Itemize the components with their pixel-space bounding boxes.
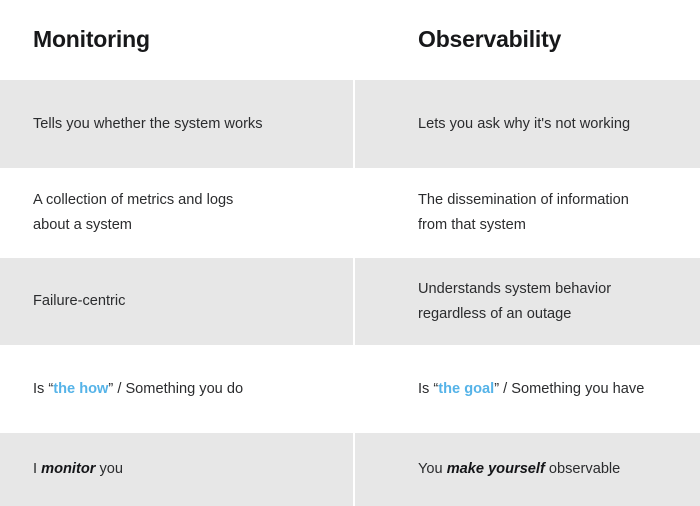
column-title-observability: Observability bbox=[418, 26, 561, 54]
table-header-row: Monitoring Observability bbox=[0, 0, 700, 80]
table-row: Is “the how” / Something you do Is “the … bbox=[0, 345, 700, 433]
cell-text-emphasis: monitor bbox=[41, 461, 95, 477]
cell-text: Failure-centric bbox=[33, 289, 125, 314]
cell-observability-5: You make yourself observable bbox=[350, 457, 700, 482]
cell-monitoring-1: Tells you whether the system works bbox=[0, 112, 350, 137]
cell-text: A collection of metrics and logs about a… bbox=[33, 188, 233, 238]
cell-monitoring-3: Failure-centric bbox=[0, 289, 350, 314]
cell-text-line1: Understands system behavior bbox=[418, 281, 611, 297]
cell-monitoring-5: I monitor you bbox=[0, 457, 350, 482]
comparison-table: Monitoring Observability Tells you wheth… bbox=[0, 0, 700, 506]
cell-text: The dissemination of information from th… bbox=[418, 188, 629, 238]
cell-text: Is “the goal” / Something you have bbox=[418, 377, 644, 402]
table-row: Tells you whether the system works Lets … bbox=[0, 80, 700, 168]
cell-observability-3: Understands system behavior regardless o… bbox=[350, 277, 700, 327]
cell-text: You make yourself observable bbox=[418, 457, 620, 482]
cell-observability-2: The dissemination of information from th… bbox=[350, 188, 700, 238]
table-row: I monitor you You make yourself observab… bbox=[0, 433, 700, 506]
cell-text-emphasis: make yourself bbox=[447, 461, 545, 477]
header-cell-monitoring: Monitoring bbox=[0, 26, 350, 54]
header-cell-observability: Observability bbox=[350, 26, 700, 54]
cell-text-prefix: Is “ bbox=[33, 381, 53, 397]
column-title-monitoring: Monitoring bbox=[33, 26, 150, 54]
cell-text-prefix: I bbox=[33, 461, 41, 477]
cell-text-accent: the goal bbox=[438, 381, 494, 397]
cell-text-suffix: ” / Something you have bbox=[494, 381, 644, 397]
cell-monitoring-4: Is “the how” / Something you do bbox=[0, 377, 350, 402]
cell-text-suffix: observable bbox=[545, 461, 620, 477]
cell-text-suffix: ” / Something you do bbox=[108, 381, 243, 397]
cell-text: Is “the how” / Something you do bbox=[33, 377, 243, 402]
cell-text: Lets you ask why it's not working bbox=[418, 112, 630, 137]
cell-text-line2: regardless of an outage bbox=[418, 306, 571, 322]
cell-text-line1: The dissemination of information bbox=[418, 192, 629, 208]
cell-text-prefix: You bbox=[418, 461, 447, 477]
cell-text-suffix: you bbox=[95, 461, 123, 477]
cell-text-prefix: Is “ bbox=[418, 381, 438, 397]
table-row: A collection of metrics and logs about a… bbox=[0, 168, 700, 258]
cell-text: Understands system behavior regardless o… bbox=[418, 277, 611, 327]
table-row: Failure-centric Understands system behav… bbox=[0, 258, 700, 345]
cell-text-accent: the how bbox=[53, 381, 108, 397]
cell-text-line2: from that system bbox=[418, 217, 526, 233]
cell-text-plain: Tells you whether the system works bbox=[33, 116, 263, 132]
cell-monitoring-2: A collection of metrics and logs about a… bbox=[0, 188, 350, 238]
cell-text-line1: A collection of metrics and logs bbox=[33, 192, 233, 208]
cell-text: Tells you whether the system works bbox=[33, 112, 263, 137]
cell-observability-1: Lets you ask why it's not working bbox=[350, 112, 700, 137]
cell-text-line2: about a system bbox=[33, 217, 132, 233]
cell-observability-4: Is “the goal” / Something you have bbox=[350, 377, 700, 402]
cell-text-plain: Failure-centric bbox=[33, 293, 125, 309]
cell-text: I monitor you bbox=[33, 457, 123, 482]
cell-text-plain: Lets you ask why it's not working bbox=[418, 116, 630, 132]
